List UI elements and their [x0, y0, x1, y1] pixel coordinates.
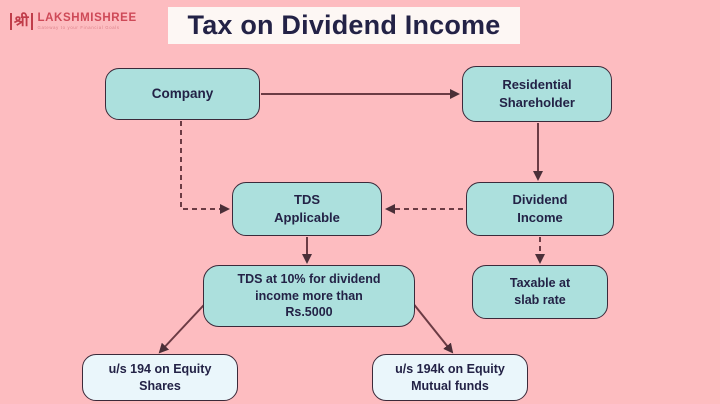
- node-tds-applicable-label: TDS Applicable: [268, 191, 346, 226]
- node-company-label: Company: [146, 85, 220, 103]
- node-residential-shareholder-label: Residential Shareholder: [493, 76, 581, 111]
- node-section-194-label: u/s 194 on Equity Shares: [103, 361, 218, 395]
- node-tds-rate[interactable]: TDS at 10% for dividend income more than…: [203, 265, 415, 327]
- node-section-194[interactable]: u/s 194 on Equity Shares: [82, 354, 238, 401]
- slide-canvas: श्री LAKSHMISHREE Gateway to your Financ…: [0, 0, 720, 404]
- node-residential-shareholder[interactable]: Residential Shareholder: [462, 66, 612, 122]
- node-taxable-slab-rate[interactable]: Taxable at slab rate: [472, 265, 608, 319]
- node-section-194k-label: u/s 194k on Equity Mutual funds: [389, 361, 511, 395]
- node-dividend-income[interactable]: Dividend Income: [466, 182, 614, 236]
- node-tds-rate-label: TDS at 10% for dividend income more than…: [231, 271, 386, 322]
- node-section-194k[interactable]: u/s 194k on Equity Mutual funds: [372, 354, 528, 401]
- node-company[interactable]: Company: [105, 68, 260, 120]
- node-dividend-income-label: Dividend Income: [507, 191, 574, 226]
- node-tds-applicable[interactable]: TDS Applicable: [232, 182, 382, 236]
- node-taxable-slab-rate-label: Taxable at slab rate: [504, 275, 576, 309]
- edge-company-to-tds-applicable: [181, 121, 228, 209]
